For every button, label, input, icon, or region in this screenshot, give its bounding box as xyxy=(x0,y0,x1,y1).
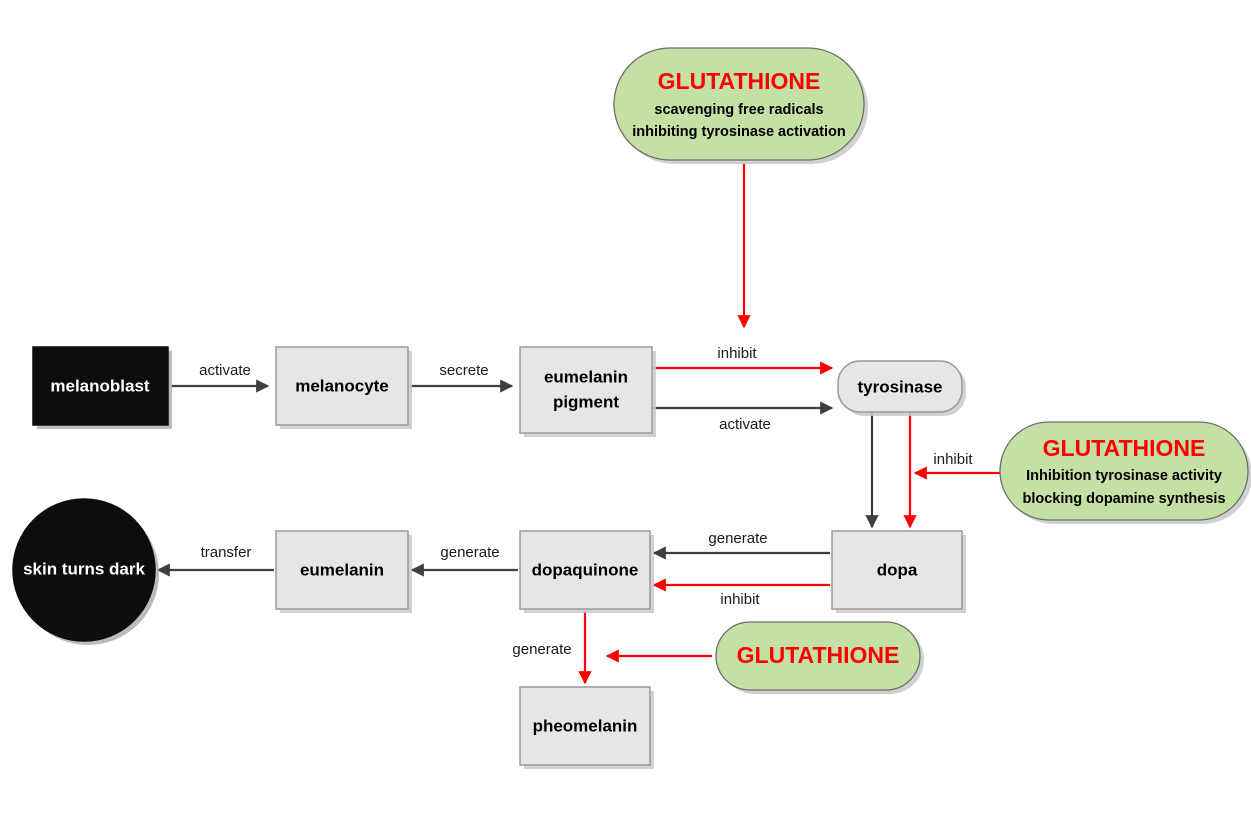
edge-dopa-dopaquinone-generate: generate xyxy=(654,530,830,553)
edge-label-secrete: secrete xyxy=(439,362,488,379)
node-glutathione-right[interactable]: GLUTATHIONE Inhibition tyrosinase activi… xyxy=(1000,422,1251,524)
node-eumelanin-pigment[interactable]: eumelanin pigment xyxy=(520,347,656,437)
node-label-tyrosinase: tyrosinase xyxy=(857,377,942,396)
node-glutathione-bottom[interactable]: GLUTATHIONE xyxy=(716,622,924,694)
node-tyrosinase[interactable]: tyrosinase xyxy=(838,361,966,416)
edge-eumelanin-pigment-tyrosinase-inhibit: inhibit xyxy=(652,345,832,368)
node-skin-turns-dark[interactable]: skin turns dark xyxy=(13,499,159,645)
node-label-melanoblast: melanoblast xyxy=(50,376,150,395)
edge-melanocyte-eumelanin-pigment: secrete xyxy=(410,362,512,386)
node-label-skin-turns-dark: skin turns dark xyxy=(23,559,145,578)
diagram-canvas: activate secrete inhibit activate xyxy=(0,0,1251,834)
glutathione-top-title: GLUTATHIONE xyxy=(658,68,821,94)
edge-glutathione-right-inhibit: inhibit xyxy=(915,451,1000,473)
edge-label-transfer: transfer xyxy=(201,544,252,561)
edge-dopaquinone-eumelanin: generate xyxy=(412,544,518,570)
node-dopaquinone[interactable]: dopaquinone xyxy=(520,531,654,613)
node-label-dopa: dopa xyxy=(877,560,918,579)
edge-label-activate-2: activate xyxy=(719,416,771,433)
edge-dopa-dopaquinone-inhibit: inhibit xyxy=(654,585,830,608)
edge-eumelanin-skin: transfer xyxy=(158,544,274,570)
edge-label-inhibit-3: inhibit xyxy=(720,591,760,608)
melanogenesis-diagram: activate secrete inhibit activate xyxy=(0,0,1251,834)
node-shape xyxy=(520,347,652,433)
glutathione-bottom-title: GLUTATHIONE xyxy=(737,642,900,668)
node-label-dopaquinone: dopaquinone xyxy=(532,560,639,579)
edge-melanoblast-melanocyte: activate xyxy=(170,362,268,386)
node-glutathione-top[interactable]: GLUTATHIONE scavenging free radicals inh… xyxy=(614,48,868,164)
edge-label-inhibit-2: inhibit xyxy=(933,451,973,468)
node-eumelanin[interactable]: eumelanin xyxy=(276,531,412,613)
node-label-eumelanin-pigment-line2: pigment xyxy=(553,392,619,411)
edge-label-generate-3: generate xyxy=(512,641,571,658)
edge-label-generate-1: generate xyxy=(708,530,767,547)
node-melanocyte[interactable]: melanocyte xyxy=(276,347,412,429)
glutathione-right-line1: Inhibition tyrosinase activity xyxy=(1026,468,1222,484)
glutathione-right-title: GLUTATHIONE xyxy=(1043,435,1206,461)
node-label-eumelanin-pigment-line1: eumelanin xyxy=(544,367,628,386)
node-melanoblast[interactable]: melanoblast xyxy=(33,347,172,429)
edge-label-activate-1: activate xyxy=(199,362,251,379)
node-label-eumelanin: eumelanin xyxy=(300,560,384,579)
node-label-pheomelanin: pheomelanin xyxy=(533,716,638,735)
edge-label-generate-2: generate xyxy=(440,544,499,561)
edge-eumelanin-pigment-tyrosinase-activate: activate xyxy=(652,408,832,433)
edge-label-inhibit-1: inhibit xyxy=(717,345,757,362)
glutathione-right-line2: blocking dopamine synthesis xyxy=(1022,491,1225,507)
node-label-melanocyte: melanocyte xyxy=(295,376,389,395)
edge-dopaquinone-pheomelanin: generate xyxy=(512,611,585,683)
node-dopa[interactable]: dopa xyxy=(832,531,966,613)
glutathione-top-line2: inhibiting tyrosinase activation xyxy=(632,124,846,140)
glutathione-top-line1: scavenging free radicals xyxy=(654,102,823,118)
node-pheomelanin[interactable]: pheomelanin xyxy=(520,687,654,769)
